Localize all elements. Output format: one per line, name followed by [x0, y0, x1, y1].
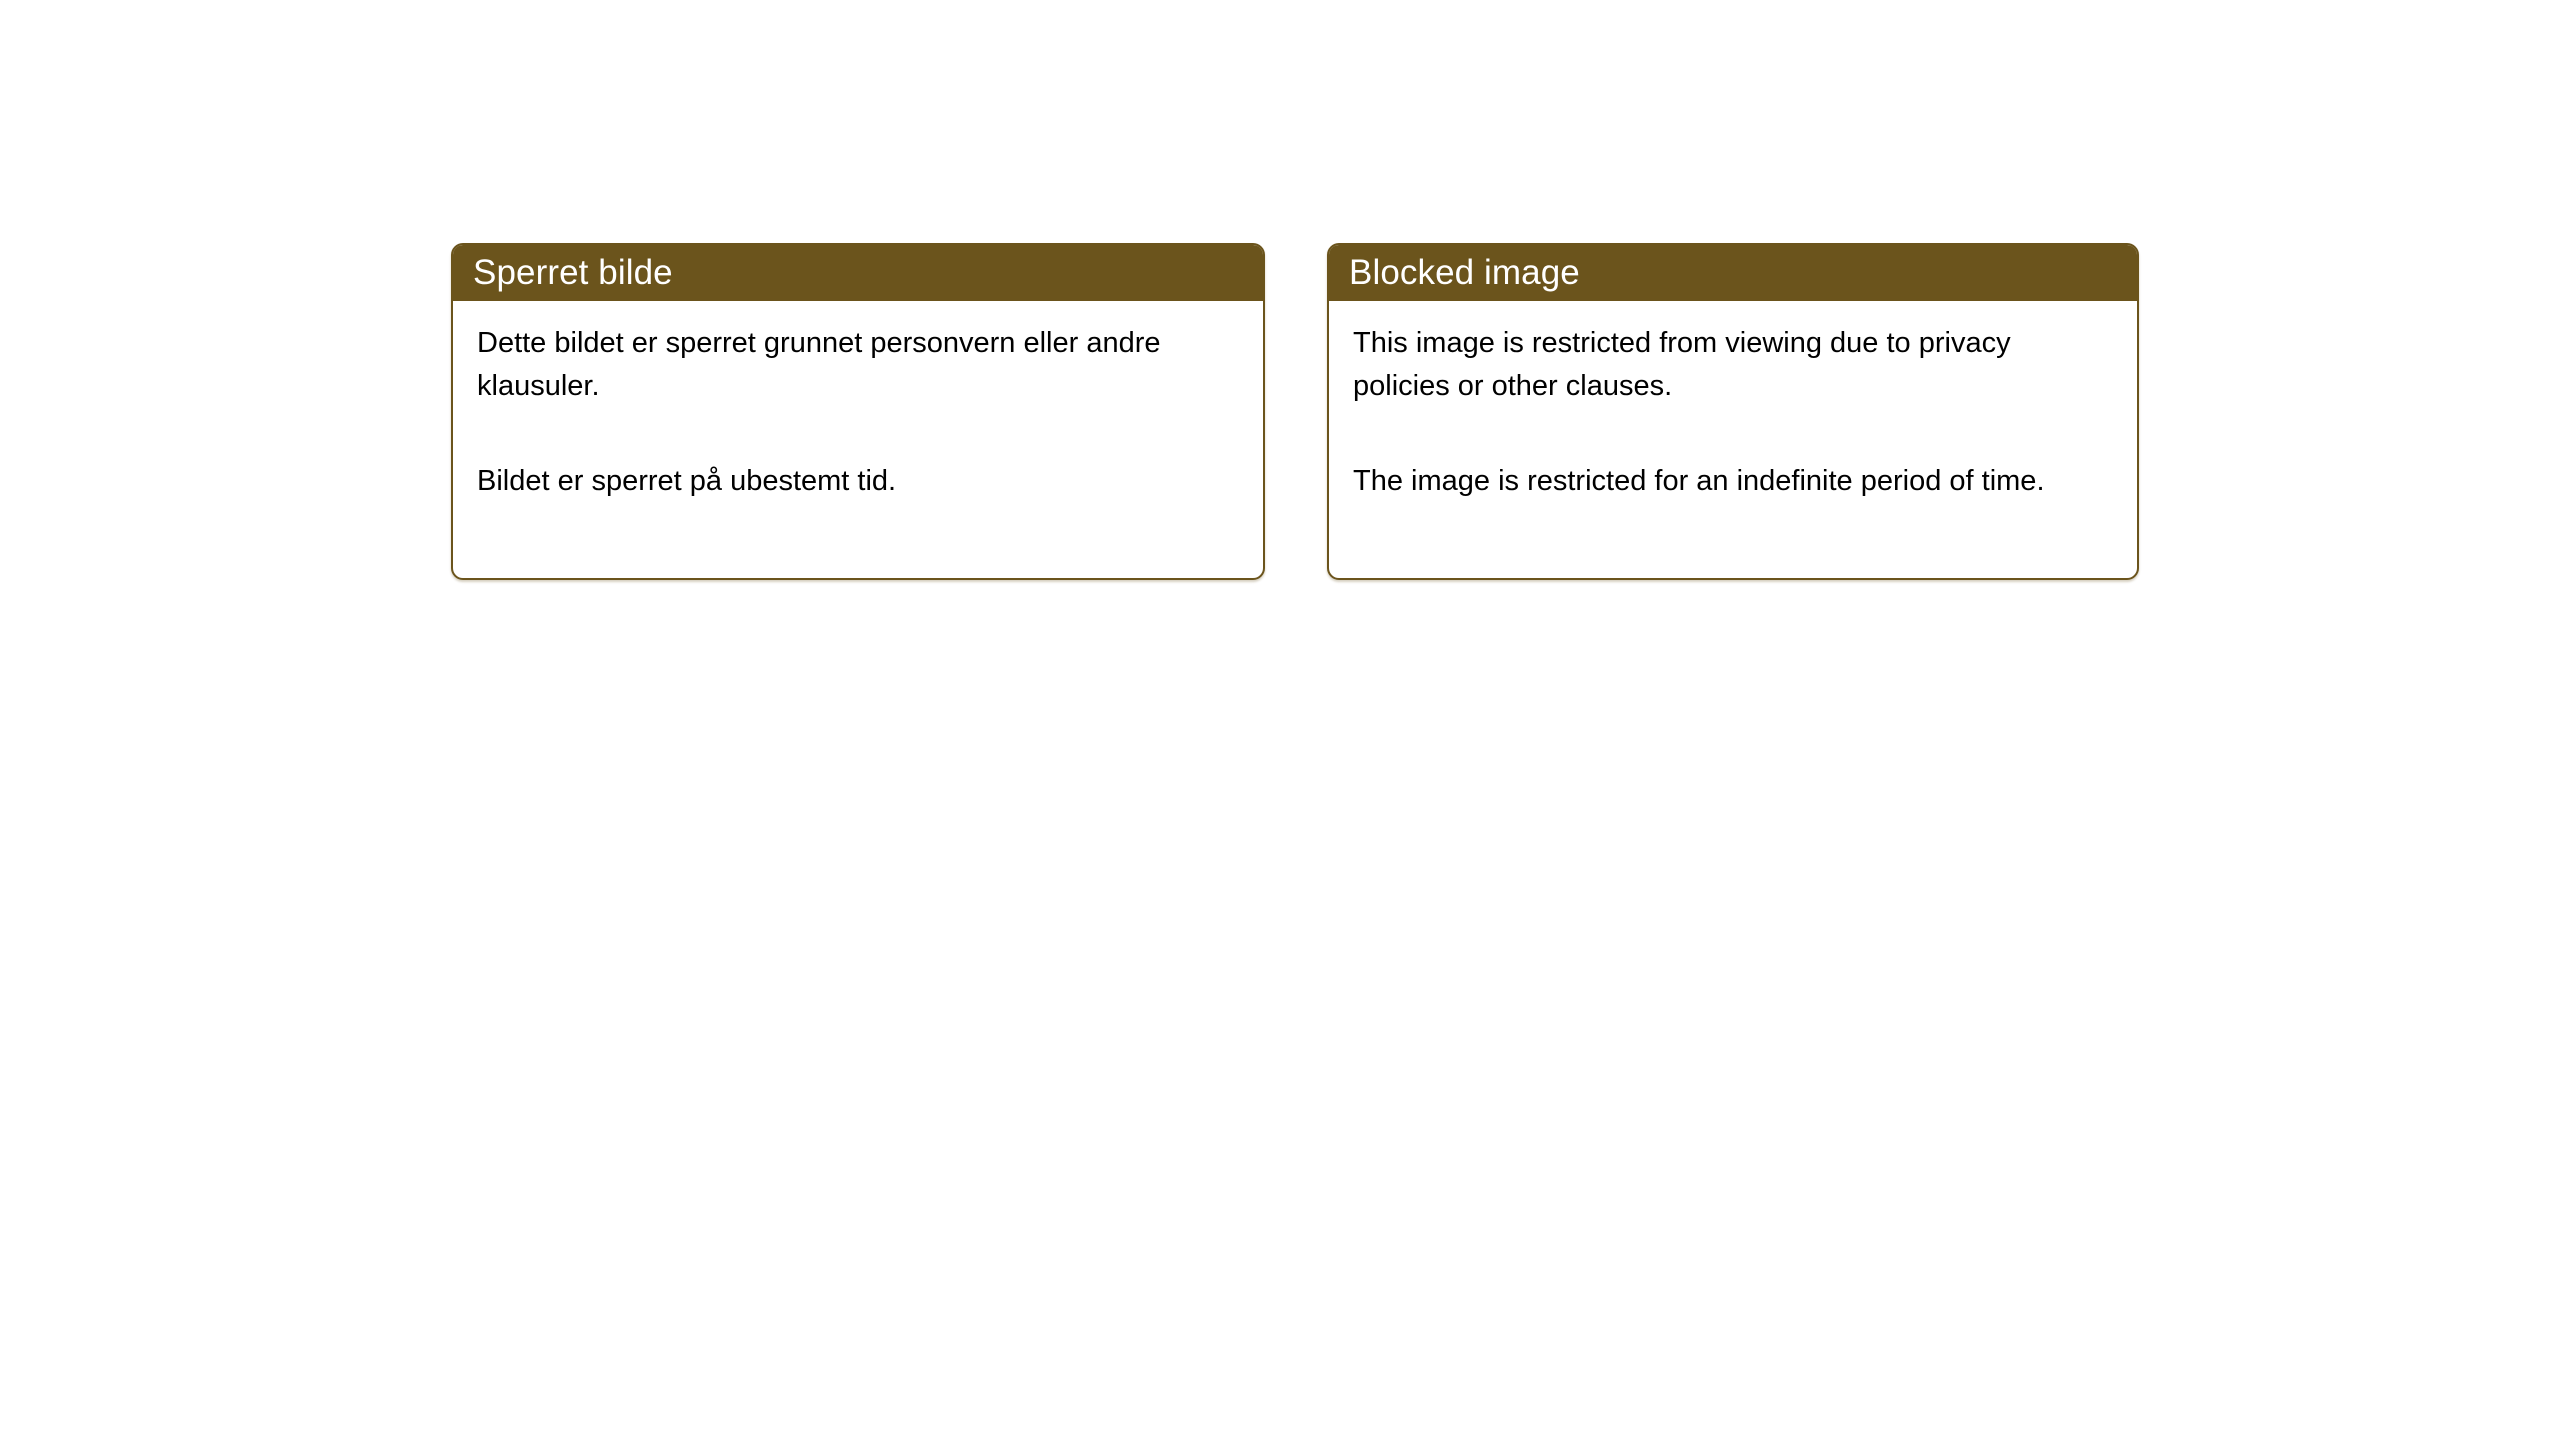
- notice-paragraph-primary-english: This image is restricted from viewing du…: [1353, 322, 2113, 408]
- notice-paragraph-secondary-english: The image is restricted for an indefinit…: [1353, 460, 2113, 503]
- notice-paragraph-primary-norwegian: Dette bildet er sperret grunnet personve…: [477, 322, 1222, 408]
- panel-header-english: Blocked image: [1327, 243, 2139, 301]
- panel-header-norwegian: Sperret bilde: [451, 243, 1265, 301]
- panel-title-norwegian: Sperret bilde: [473, 255, 673, 290]
- panel-title-english: Blocked image: [1349, 255, 1580, 290]
- notice-paragraph-secondary-norwegian: Bildet er sperret på ubestemt tid.: [477, 460, 1222, 503]
- panel-body-english: This image is restricted from viewing du…: [1329, 301, 2137, 503]
- blocked-image-notices: Sperret bilde Dette bildet er sperret gr…: [451, 243, 2139, 580]
- panel-body-norwegian: Dette bildet er sperret grunnet personve…: [453, 301, 1263, 503]
- blocked-image-notice-norwegian: Sperret bilde Dette bildet er sperret gr…: [451, 243, 1265, 580]
- blocked-image-notice-english: Blocked image This image is restricted f…: [1327, 243, 2139, 580]
